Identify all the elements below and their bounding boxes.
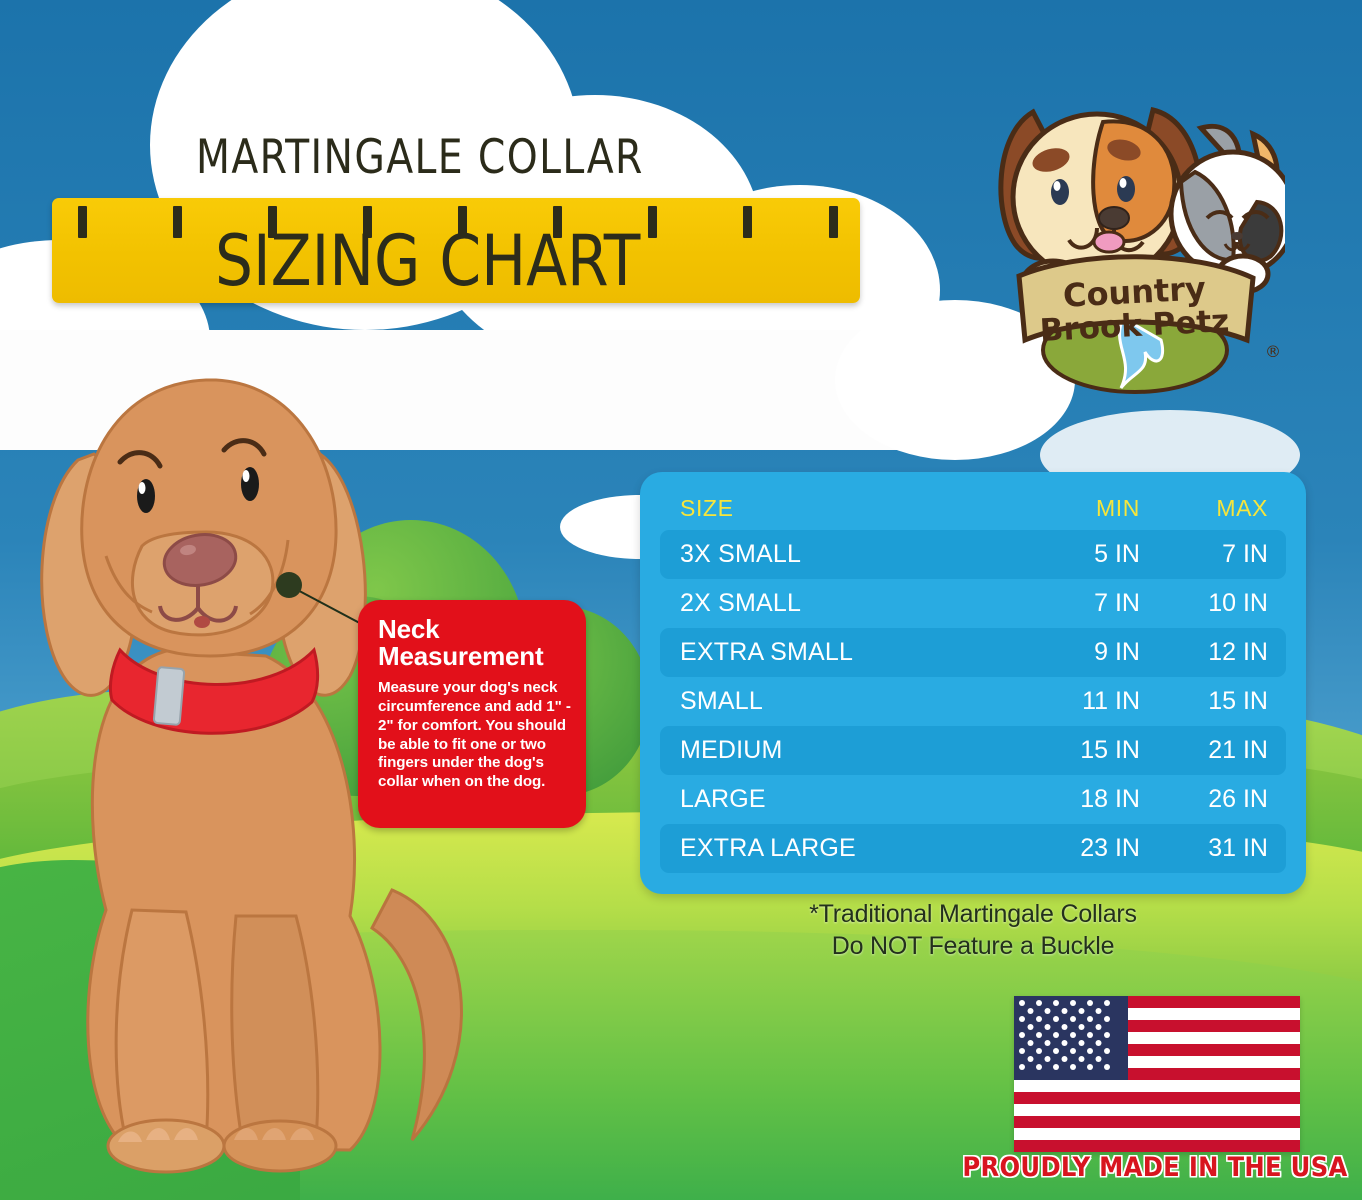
cell-size: EXTRA LARGE — [660, 834, 990, 863]
cell-max: 15 IN — [1140, 687, 1286, 716]
page-title: SIZING CHART — [215, 220, 640, 302]
sizing-chart-infographic: MARTINGALE COLLAR SIZING CHART — [0, 0, 1362, 1200]
column-header-size: SIZE — [660, 495, 990, 522]
sizing-table-panel: SIZE MIN MAX 3X SMALL 5 IN 7 IN 2X SMALL… — [640, 472, 1306, 894]
cell-max: 21 IN — [1140, 736, 1286, 765]
registered-icon: ® — [1265, 342, 1281, 361]
cell-max: 12 IN — [1140, 638, 1286, 667]
table-row: EXTRA LARGE 23 IN 31 IN — [660, 824, 1286, 873]
cell-size: SMALL — [660, 687, 990, 716]
table-header-row: SIZE MIN MAX — [660, 486, 1286, 530]
neck-measurement-callout: Neck Measurement Measure your dog's neck… — [358, 600, 586, 828]
cell-max: 10 IN — [1140, 589, 1286, 618]
callout-pointer-dot — [276, 572, 302, 598]
cell-size: 2X SMALL — [660, 589, 990, 618]
cell-size: MEDIUM — [660, 736, 990, 765]
cell-size: EXTRA SMALL — [660, 638, 990, 667]
table-row: MEDIUM 15 IN 21 IN — [660, 726, 1286, 775]
cell-size: 3X SMALL — [660, 540, 990, 569]
cell-size: LARGE — [660, 785, 990, 814]
table-footnote: *Traditional Martingale Collars Do NOT F… — [640, 898, 1306, 962]
cell-min: 7 IN — [990, 589, 1140, 618]
cell-min: 18 IN — [990, 785, 1140, 814]
cell-max: 26 IN — [1140, 785, 1286, 814]
cell-min: 15 IN — [990, 736, 1140, 765]
table-row: 3X SMALL 5 IN 7 IN — [660, 530, 1286, 579]
cell-max: 31 IN — [1140, 834, 1286, 863]
flag-canton — [1014, 996, 1128, 1080]
callout-title-line2: Measurement — [378, 641, 543, 671]
usa-flag-icon — [1014, 996, 1300, 1152]
sizing-table: SIZE MIN MAX 3X SMALL 5 IN 7 IN 2X SMALL… — [660, 486, 1286, 873]
table-row: EXTRA SMALL 9 IN 12 IN — [660, 628, 1286, 677]
table-row: LARGE 18 IN 26 IN — [660, 775, 1286, 824]
table-row: SMALL 11 IN 15 IN — [660, 677, 1286, 726]
callout-body-text: Measure your dog's neck circumference an… — [358, 670, 586, 792]
column-header-min: MIN — [990, 495, 1140, 522]
cell-min: 5 IN — [990, 540, 1140, 569]
brand-logo: Country Brook Petz ® — [985, 72, 1285, 402]
table-row: 2X SMALL 7 IN 10 IN — [660, 579, 1286, 628]
cell-min: 11 IN — [990, 687, 1140, 716]
column-header-max: MAX — [1140, 495, 1286, 522]
cell-min: 23 IN — [990, 834, 1140, 863]
footnote-line1: *Traditional Martingale Collars — [640, 898, 1306, 930]
footnote-line2: Do NOT Feature a Buckle — [640, 930, 1306, 962]
callout-title-line1: Neck — [378, 614, 439, 644]
cell-max: 7 IN — [1140, 540, 1286, 569]
cell-min: 9 IN — [990, 638, 1140, 667]
page-eyebrow-title: MARTINGALE COLLAR — [196, 130, 644, 185]
made-in-usa-label: PROUDLY MADE IN THE USA — [945, 1152, 1362, 1183]
